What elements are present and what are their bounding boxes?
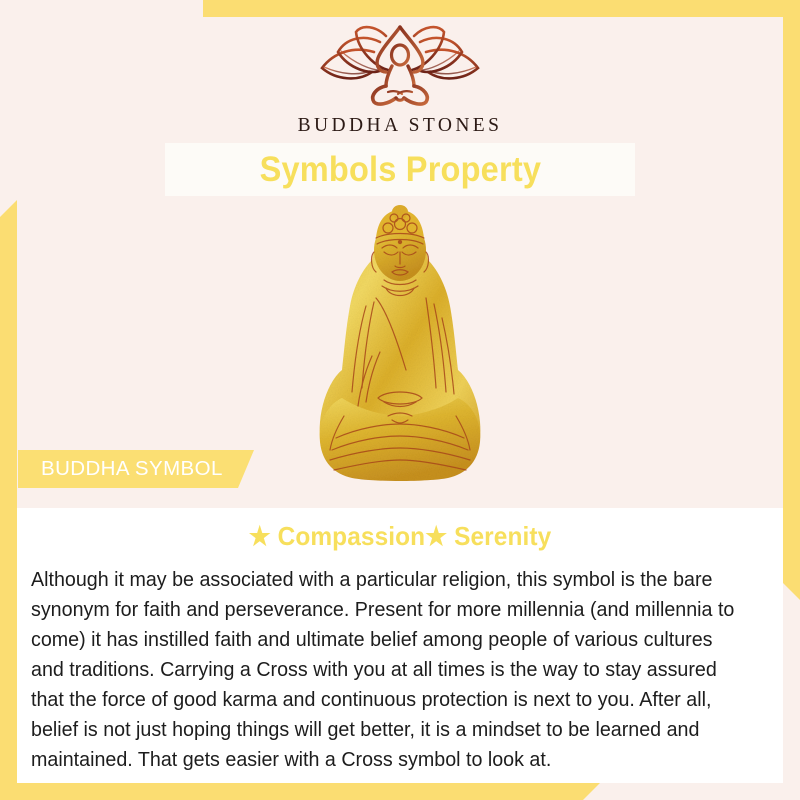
badge-label: BUDDHA SYMBOL bbox=[41, 457, 223, 481]
content-body-text: Although it may be associated with a par… bbox=[31, 565, 739, 775]
product-info-banner: BUDDHA STONES Symbols Property bbox=[0, 0, 800, 800]
lotus-meditation-figure-icon bbox=[314, 22, 486, 106]
brand-wordmark: BUDDHA STONES bbox=[298, 115, 503, 137]
decorative-band-bottom bbox=[0, 783, 600, 800]
title-banner: Symbols Property bbox=[165, 143, 635, 196]
decorative-band-top bbox=[203, 0, 800, 17]
brand-logo: BUDDHA STONES bbox=[0, 22, 800, 137]
hero-image bbox=[0, 202, 800, 492]
page-title: Symbols Property bbox=[259, 150, 541, 190]
content-subtitle: ★ Compassion★ Serenity bbox=[40, 521, 760, 552]
content-panel: ★ Compassion★ Serenity Although it may b… bbox=[17, 508, 783, 783]
seated-buddha-statue-illustration bbox=[314, 202, 486, 492]
status-badge: BUDDHA SYMBOL bbox=[18, 450, 254, 488]
